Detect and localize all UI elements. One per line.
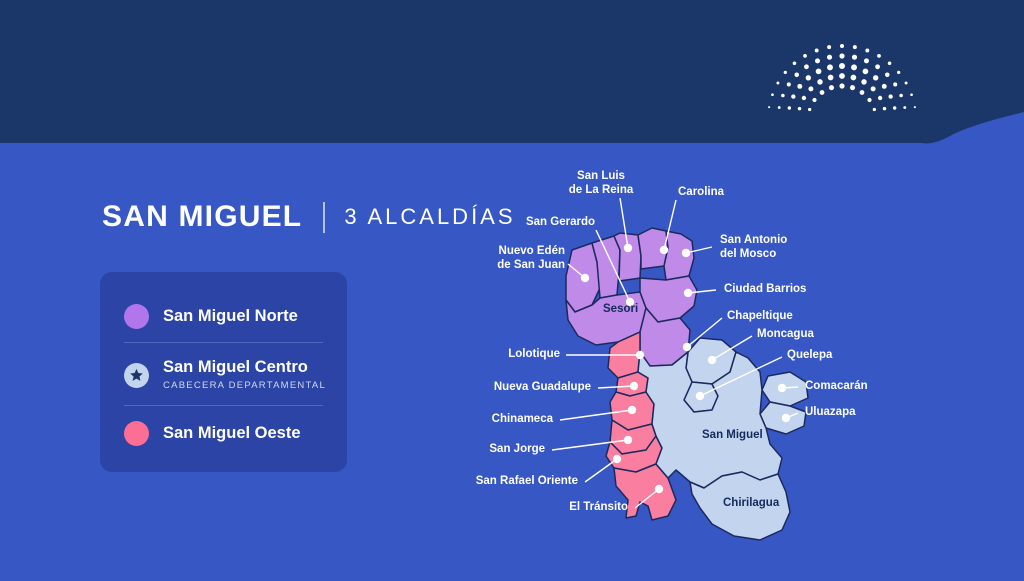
map-label-chapeltique: Chapeltique xyxy=(727,310,793,324)
map-label-ciudad-barrios: Ciudad Barrios xyxy=(724,283,806,297)
map-label-san-luis-de-la-reina: San Luis de La Reina xyxy=(546,170,656,197)
map-label-lolotique: Lolotique xyxy=(435,348,560,362)
map-label-san-jorge: San Jorge xyxy=(420,443,545,457)
map-label-chinameca: Chinameca xyxy=(428,413,553,427)
map-label-el-transito: El Tránsito xyxy=(500,501,628,515)
infographic-slide: SAN MIGUEL 3 ALCALDÍAS San Miguel Norte … xyxy=(0,0,1024,576)
map-graphic: San Luis de La Reina Carolina San Gerard… xyxy=(0,0,1024,576)
map-label-quelepa: Quelepa xyxy=(787,349,832,363)
map-label-comacaran: Comacarán xyxy=(805,380,868,394)
map-inlabel-sesori: Sesori xyxy=(603,303,638,317)
map-label-nuevo-eden-de-san-juan: Nuevo Edén de San Juan xyxy=(430,245,565,272)
map-label-uluazapa: Uluazapa xyxy=(805,406,856,420)
map-inlabel-san-miguel: San Miguel xyxy=(702,429,763,443)
map-label-nueva-guadalupe: Nueva Guadalupe xyxy=(433,381,591,395)
map-label-san-gerardo: San Gerardo xyxy=(465,216,595,230)
region-san-antonio-del-mosco xyxy=(664,231,694,280)
map-label-san-antonio-del-mosco: San Antonio del Mosco xyxy=(720,234,787,261)
map-label-san-rafael-oriente: San Rafael Oriente xyxy=(385,475,578,489)
map-label-carolina: Carolina xyxy=(678,186,724,200)
map-label-moncagua: Moncagua xyxy=(757,328,814,342)
map-inlabel-chirilagua: Chirilagua xyxy=(723,497,779,511)
